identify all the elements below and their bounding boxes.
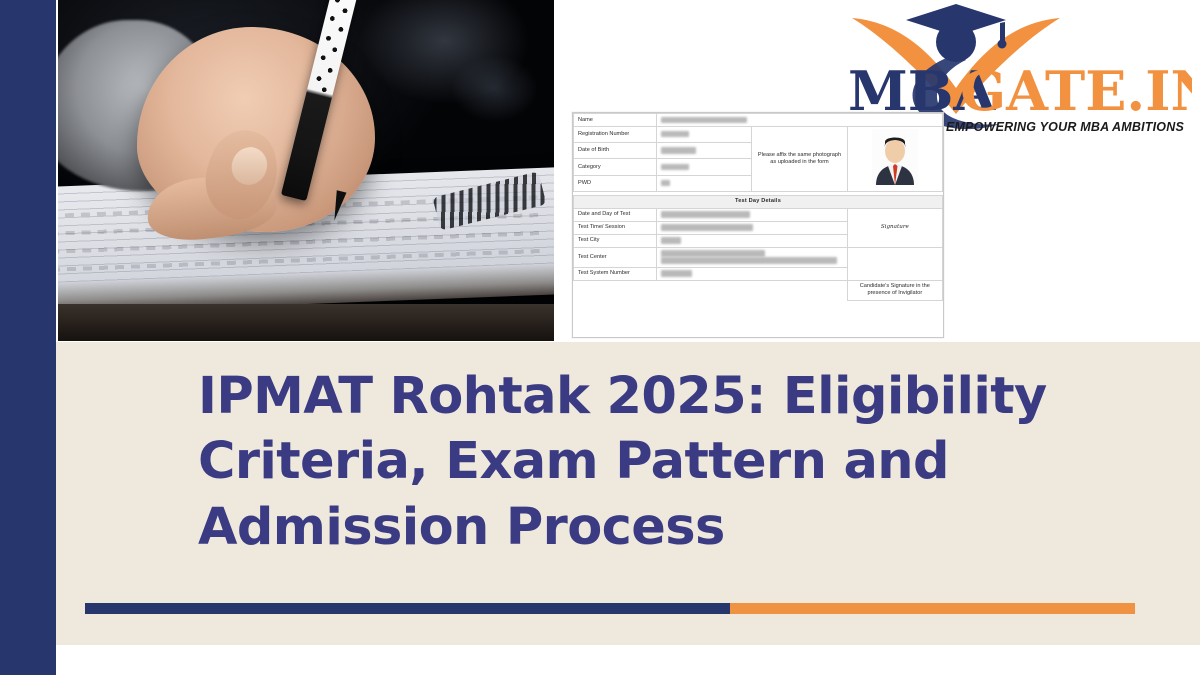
row-label: Test System Number — [574, 267, 657, 280]
table-row: Registration Number ███████ Please affix… — [574, 126, 943, 142]
row-value: ██:██ ██ ██ ██:██ ██ / ███████ — [657, 221, 848, 234]
accent-rule-orange — [730, 603, 1135, 614]
row-label: Date of Birth — [574, 143, 657, 159]
table-section-heading-row: Test Day Details — [574, 195, 943, 208]
brand-tagline: EMPOWERING YOUR MBA AMBITIONS — [946, 120, 1184, 134]
signature-instruction: Candidate's Signature in the presence of… — [847, 280, 942, 300]
admit-card-preview: Name █████████ ██████ ███████ Registrati… — [572, 112, 944, 338]
row-value: █████████ ██████ ███████ — [657, 114, 943, 127]
accent-rule-navy — [85, 603, 730, 614]
row-label: Name — [574, 114, 657, 127]
row-label: Test City — [574, 234, 657, 247]
desk-surface — [58, 304, 554, 342]
wordmark-gate-in: GATE.IN — [960, 59, 1192, 123]
cap-tassel-knob-icon — [998, 40, 1007, 49]
title-banner: IPMAT Rohtak 2025: Eligibility Criteria,… — [56, 342, 1200, 645]
table-row: Name █████████ ██████ ███████ — [574, 114, 943, 127]
page-title: IPMAT Rohtak 2025: Eligibility Criteria,… — [198, 364, 1078, 560]
left-navy-rail — [0, 0, 56, 675]
row-label: Category — [574, 159, 657, 175]
table-row: Candidate's Signature in the presence of… — [574, 280, 943, 300]
admit-card-table: Name █████████ ██████ ███████ Registrati… — [573, 113, 943, 301]
table-row: Test Center ███ ██████ ████ ███ █, █████… — [574, 247, 943, 267]
row-value: ███████ — [657, 159, 752, 175]
cap-board-icon — [906, 4, 1006, 36]
signature-sample: Signature — [847, 208, 942, 247]
row-value: ███ ██████ ████ ███ █, ██████ ██ ██████,… — [657, 247, 848, 267]
row-value: ████████ — [657, 267, 848, 280]
writing-hand-photo — [58, 0, 554, 341]
photo-instruction-note: Please affix the same photograph as uplo… — [752, 126, 847, 191]
cap-tassel-icon — [1000, 22, 1005, 42]
poster-canvas: MBA GATE.IN EMPOWERING YOUR MBA AMBITION… — [0, 0, 1200, 675]
signature-box — [847, 247, 942, 280]
table-row: Date and Day of Test ███ ████████ ████ █… — [574, 208, 943, 221]
row-label: Date and Day of Test — [574, 208, 657, 221]
row-value: ███████ — [657, 126, 752, 142]
candidate-photo-cell — [847, 126, 942, 191]
accent-rule — [85, 603, 1135, 614]
row-value: █████ — [657, 234, 848, 247]
row-label: Test Center — [574, 247, 657, 267]
candidate-avatar — [872, 129, 918, 185]
row-value: ██-██-████ — [657, 143, 752, 159]
row-label: PWD — [574, 175, 657, 191]
row-label: Registration Number — [574, 126, 657, 142]
row-label: Test Time/ Session — [574, 221, 657, 234]
row-value: ███ ████████ ████ █ ██████ — [657, 208, 848, 221]
row-value: ██ — [657, 175, 752, 191]
test-day-details-heading: Test Day Details — [574, 195, 943, 208]
empty-cell — [574, 280, 848, 300]
